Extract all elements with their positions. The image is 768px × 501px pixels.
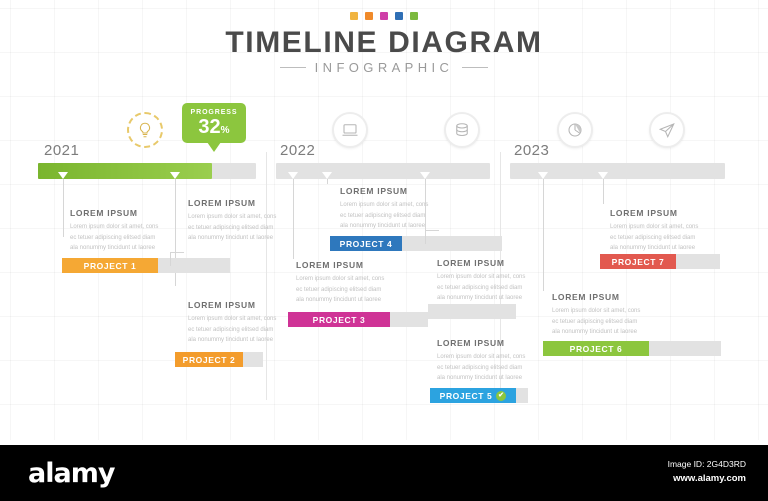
project-6-heading: LOREM IPSUM (552, 292, 644, 302)
project-6-body: Lorem ipsum dolor sit amet, cons ec tetu… (552, 306, 644, 338)
project-2-row[interactable]: PROJECT 2 (175, 352, 263, 367)
project-2-heading-b: LOREM IPSUM (188, 300, 280, 310)
project-2-body: Lorem ipsum dolor sit amet, cons ec tetu… (188, 212, 280, 244)
branch-stem (543, 179, 544, 291)
branch-marker (420, 172, 430, 179)
branch-marker (288, 172, 298, 179)
year-label-2023: 2023 (514, 142, 549, 159)
branch-marker (538, 172, 548, 179)
branch-stem (293, 179, 294, 259)
progress-badge-label: PROGRESS (191, 109, 238, 116)
header-dot-5 (410, 12, 418, 20)
header-dot-row (0, 12, 768, 20)
progress-badge: PROGRESS 32% (182, 103, 246, 143)
project-5-track-upper (428, 304, 516, 319)
project-7-label: PROJECT 7 (612, 257, 665, 267)
project-2-tag[interactable]: PROJECT 2 (175, 352, 243, 367)
branch-marker (322, 172, 332, 179)
laptop-icon (332, 112, 368, 148)
project-4-heading: LOREM IPSUM (340, 186, 432, 196)
alamy-logo: alamy (28, 458, 114, 489)
project-6-tag[interactable]: PROJECT 6 (543, 341, 649, 356)
project-4-row[interactable]: PROJECT 4 (330, 236, 502, 251)
year-label-2022: 2022 (280, 142, 315, 159)
project-2-body-b: Lorem ipsum dolor sit amet, cons ec tetu… (188, 314, 280, 346)
header-dot-2 (365, 12, 373, 20)
project-1-body: Lorem ipsum dolor sit amet, cons ec tetu… (70, 222, 162, 254)
subtitle-rule-left (280, 67, 306, 68)
project-7-tag[interactable]: PROJECT 7 (600, 254, 676, 269)
project-4-label: PROJECT 4 (340, 239, 393, 249)
timeline-infographic: TIMELINE DIAGRAM INFOGRAPHIC (0, 0, 768, 501)
branch-stem (327, 179, 328, 184)
timeline-track-2021[interactable] (38, 163, 256, 179)
project-5-text: LOREM IPSUM Lorem ipsum dolor sit amet, … (437, 258, 529, 304)
branch-marker (58, 172, 68, 179)
lightbulb-icon (127, 112, 163, 148)
project-2-text-b: LOREM IPSUM Lorem ipsum dolor sit amet, … (188, 300, 280, 346)
project-6-label: PROJECT 6 (570, 344, 623, 354)
project-7-body: Lorem ipsum dolor sit amet, cons ec tetu… (610, 222, 702, 254)
project-5-heading-b: LOREM IPSUM (437, 338, 529, 348)
page-subtitle: INFOGRAPHIC (315, 60, 454, 75)
project-2-label: PROJECT 2 (183, 355, 236, 365)
project-6-row[interactable]: PROJECT 6 (543, 341, 721, 356)
header-dot-3 (380, 12, 388, 20)
branch-marker (170, 172, 180, 179)
project-5-text-b: LOREM IPSUM Lorem ipsum dolor sit amet, … (437, 338, 529, 384)
project-4-text: LOREM IPSUM Lorem ipsum dolor sit amet, … (340, 186, 432, 232)
project-5-done-check-icon: ✔ (496, 391, 506, 401)
branch-marker (598, 172, 608, 179)
project-3-heading: LOREM IPSUM (296, 260, 388, 270)
project-1-label: PROJECT 1 (84, 261, 137, 271)
project-7-row[interactable]: PROJECT 7 (600, 254, 720, 269)
watermark-meta: Image ID: 2G4D3RD www.alamy.com (668, 459, 746, 484)
alamy-watermark-bar: alamy Image ID: 2G4D3RD www.alamy.com (0, 445, 768, 501)
pie-chart-icon (557, 112, 593, 148)
page-title: TIMELINE DIAGRAM (0, 26, 768, 60)
project-7-text: LOREM IPSUM Lorem ipsum dolor sit amet, … (610, 208, 702, 254)
progress-badge-unit: % (221, 125, 230, 136)
branch-stem (63, 179, 64, 237)
project-2-text: LOREM IPSUM Lorem ipsum dolor sit amet, … (188, 198, 280, 244)
project-2-heading: LOREM IPSUM (188, 198, 280, 208)
project-5-tag[interactable]: PROJECT 5 ✔ (430, 388, 516, 403)
project-1-heading: LOREM IPSUM (70, 208, 162, 218)
project-1-tag[interactable]: PROJECT 1 (62, 258, 158, 273)
project-4-connector (425, 230, 439, 244)
progress-badge-value: 32 (198, 116, 220, 138)
project-5-heading: LOREM IPSUM (437, 258, 529, 268)
project-3-tag[interactable]: PROJECT 3 (288, 312, 390, 327)
project-3-text: LOREM IPSUM Lorem ipsum dolor sit amet, … (296, 260, 388, 306)
project-3-label: PROJECT 3 (313, 315, 366, 325)
project-7-heading: LOREM IPSUM (610, 208, 702, 218)
project-5-body-b: Lorem ipsum dolor sit amet, cons ec tetu… (437, 352, 529, 384)
project-5-label: PROJECT 5 (440, 391, 493, 401)
subtitle-rule-right (462, 67, 488, 68)
project-5-row-upper (428, 304, 516, 319)
header-dot-4 (395, 12, 403, 20)
project-5-body: Lorem ipsum dolor sit amet, cons ec tetu… (437, 272, 529, 304)
project-6-text: LOREM IPSUM Lorem ipsum dolor sit amet, … (552, 292, 644, 338)
subtitle-row: INFOGRAPHIC (0, 60, 768, 75)
image-id-text: Image ID: 2G4D3RD (668, 459, 746, 469)
project-4-tag[interactable]: PROJECT 4 (330, 236, 402, 251)
project-5-row[interactable]: PROJECT 5 ✔ (430, 388, 528, 403)
year-label-2021: 2021 (44, 142, 79, 159)
project-3-body: Lorem ipsum dolor sit amet, cons ec tetu… (296, 274, 388, 306)
alamy-url-text: www.alamy.com (668, 473, 746, 484)
header-dot-1 (350, 12, 358, 20)
project-4-body: Lorem ipsum dolor sit amet, cons ec tetu… (340, 200, 432, 232)
timeline-track-2022[interactable] (276, 163, 490, 179)
database-icon (444, 112, 480, 148)
project-3-row[interactable]: PROJECT 3 (288, 312, 428, 327)
project-1-text: LOREM IPSUM Lorem ipsum dolor sit amet, … (70, 208, 162, 254)
project-1-row[interactable]: PROJECT 1 (62, 258, 230, 273)
project-1-connector (170, 252, 184, 266)
section-divider (266, 152, 267, 400)
progress-badge-pointer (207, 142, 221, 152)
paper-plane-icon (649, 112, 685, 148)
branch-stem (603, 179, 604, 204)
